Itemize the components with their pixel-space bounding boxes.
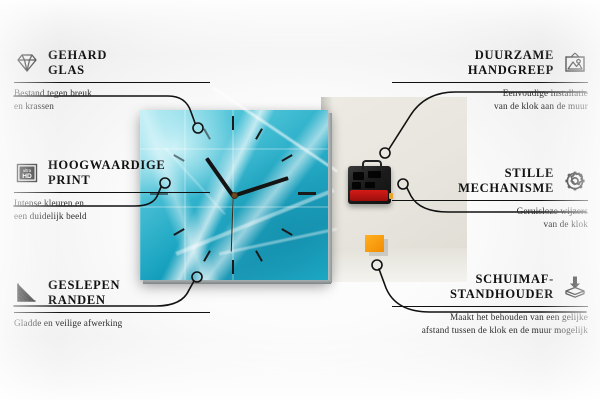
node-gehard-glas [193, 123, 203, 133]
feature-description: Bestand tegen breuk en krassen [14, 87, 210, 112]
feature-header: DUURZAME HANDGREEP [392, 48, 588, 78]
infographic-canvas: GEHARD GLAS Bestand tegen breuk en krass… [0, 0, 600, 400]
feature-header: GESLEPEN RANDEN [14, 278, 210, 308]
feature-gehard-glas: GEHARD GLAS Bestand tegen breuk en krass… [14, 48, 210, 112]
feature-desc-line1: Gladde en veilige afwerking [14, 317, 210, 329]
feature-title: SCHUIMAF- STANDHOUDER [450, 272, 554, 302]
feature-header: STILLE MECHANISME [392, 166, 588, 196]
feature-desc-line2: een duidelijk beeld [14, 210, 210, 222]
feature-title: GEHARD GLAS [48, 48, 107, 78]
ultra-hd-icon: ultra HD [14, 161, 40, 185]
feature-title-line1: GESLEPEN [48, 278, 120, 293]
feature-header: ultra HD HOOGWAARDIGE PRINT [14, 158, 210, 188]
feature-description: Intense kleuren en een duidelijk beeld [14, 197, 210, 222]
feature-description: Eenvoudige installatie van de klok aan d… [392, 87, 588, 112]
feature-desc-line1: Bestand tegen breuk [14, 87, 210, 99]
feature-title-line1: STILLE [458, 166, 554, 181]
feature-description: Maakt het behouden van een gelijke afsta… [392, 311, 588, 336]
feature-divider [14, 192, 210, 194]
feature-title: HOOGWAARDIGE PRINT [48, 158, 165, 188]
feature-title: DUURZAME HANDGREEP [468, 48, 554, 78]
feature-desc-line2: en krassen [14, 100, 210, 112]
feature-divider [392, 200, 588, 202]
feature-geslepen-randen: GESLEPEN RANDEN Gladde en veilige afwerk… [14, 278, 210, 330]
feature-desc-line2: afstand tussen de klok en de muur mogeli… [392, 324, 588, 336]
feature-divider [392, 306, 588, 308]
feature-title-line1: DUURZAME [468, 48, 554, 63]
node-schuimaf-standhouder [372, 260, 382, 270]
feature-header: SCHUIMAF- STANDHOUDER [392, 272, 588, 302]
feature-title-line1: SCHUIMAF- [450, 272, 554, 287]
node-duurzame-handgreep [380, 148, 390, 158]
feature-description: Gladde en veilige afwerking [14, 317, 210, 329]
feature-divider [14, 312, 210, 314]
diamond-icon [14, 51, 40, 75]
feature-title-line1: GEHARD [48, 48, 107, 63]
feature-duurzame-handgreep: DUURZAME HANDGREEP Eenvoudige installati… [392, 48, 588, 112]
feature-divider [392, 82, 588, 84]
feature-title-line2: MECHANISME [458, 181, 554, 196]
feature-title-line2: RANDEN [48, 293, 120, 308]
feature-title: GESLEPEN RANDEN [48, 278, 120, 308]
feature-title-line2: GLAS [48, 63, 107, 78]
picture-frame-hanging-icon [562, 51, 588, 75]
spacer-stand-icon [562, 275, 588, 299]
svg-text:HD: HD [22, 173, 32, 180]
feature-title-line2: PRINT [48, 173, 165, 188]
feature-desc-line2: van de klok [392, 218, 588, 230]
feature-desc-line2: van de klok aan de muur [392, 100, 588, 112]
feature-title-line2: STANDHOUDER [450, 287, 554, 302]
beveled-edge-icon [14, 281, 40, 305]
feature-title: STILLE MECHANISME [458, 166, 554, 196]
feature-desc-line1: Intense kleuren en [14, 197, 210, 209]
feature-hoogwaardige-print: ultra HD HOOGWAARDIGE PRINT Intense kleu… [14, 158, 210, 222]
feature-title-line1: HOOGWAARDIGE [48, 158, 165, 173]
feature-schuimaf-standhouder: SCHUIMAF- STANDHOUDER Maakt het behouden… [392, 272, 588, 336]
feature-desc-line1: Maakt het behouden van een gelijke [392, 311, 588, 323]
feature-description: Geruisloze wijzers van de klok [392, 205, 588, 230]
feature-desc-line1: Eenvoudige installatie [392, 87, 588, 99]
gear-icon [562, 169, 588, 193]
feature-header: GEHARD GLAS [14, 48, 210, 78]
feature-divider [14, 82, 210, 84]
feature-stille-mechanisme: STILLE MECHANISME Geruisloze wijzers van… [392, 166, 588, 230]
feature-desc-line1: Geruisloze wijzers [392, 205, 588, 217]
feature-title-line2: HANDGREEP [468, 63, 554, 78]
